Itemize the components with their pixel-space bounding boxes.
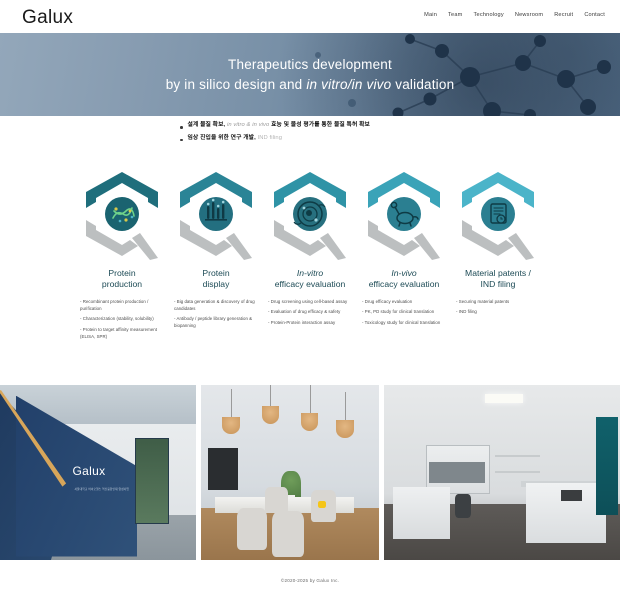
pipeline-list-item: - Drug screening using cell-based assay (268, 298, 352, 305)
nav-item-technology[interactable]: Technology (474, 12, 504, 18)
hero-text-block: Therapeutics development by in silico de… (0, 33, 620, 116)
pipeline-column-material-patents: Material patents / IND filing - Securing… (456, 168, 540, 343)
pipeline-list-item: - PK, PD study for clinical translation (362, 308, 446, 315)
lab-shelf (495, 455, 540, 457)
lab-shelf (495, 471, 540, 473)
pipeline-list-item: - Evaluation of drug efficacy & safety (268, 308, 352, 315)
pipeline-heading-line2: display (202, 279, 229, 290)
pendant-lamp (301, 413, 319, 431)
copyright-text: ©2020-2025 by Galux Inc. (281, 578, 339, 583)
pipeline-list-item: - Drug efficacy evaluation (362, 298, 446, 305)
pipeline-item-list: - Securing material patents - IND filing (456, 298, 540, 319)
nav-item-main[interactable]: Main (424, 12, 437, 18)
pipeline-heading-line1: Material patents / (465, 268, 531, 279)
pipeline-item-list: - Big data generation & discovery of dru… (174, 298, 258, 333)
pipeline-item-list: - Drug efficacy evaluation - PK, PD stud… (362, 298, 446, 330)
intro-bullet-1-bold2: 효능 및 물성 평가를 통한 물질 특허 확보 (269, 122, 370, 128)
intro-bullet-1-italic: in vitro & in vivo (227, 122, 269, 128)
page-root: Galux Main Team Technology Newsroom Recr… (0, 0, 620, 600)
pipeline-heading: In-vivo efficacy evaluation (369, 268, 440, 291)
pipeline-list-item: - Characterization (stability, solubilit… (80, 315, 164, 322)
pipeline-list-item: - Big data generation & discovery of dru… (174, 298, 258, 312)
hero-line2-italic: in vitro/in vivo (306, 77, 391, 92)
protein-production-icon (80, 168, 164, 260)
biosafety-cabinet-interior (429, 462, 486, 483)
office-chair (272, 511, 304, 557)
intro-bullet-item: 임상 진입을 위한 연구 개발, IND filing (180, 135, 620, 143)
bullet-dot-icon (180, 126, 183, 129)
pipeline-heading: Protein production (102, 268, 142, 291)
material-patents-icon (456, 168, 540, 260)
intro-bullet-2-gray: IND filing (258, 135, 283, 141)
in-vitro-efficacy-icon (268, 168, 352, 260)
laboratory-photo[interactable] (384, 385, 620, 560)
hero-line2-part-a: by in silico design and (166, 77, 307, 92)
pipeline-list-item: - Recombinant protein production / purif… (80, 298, 164, 312)
lab-bench-left (393, 487, 450, 540)
hero-headline-line2: by in silico design and in vitro/in vivo… (166, 75, 455, 95)
office-lobby-photo[interactable]: Galux 서울대학교 바이오헬스 혁신융합인재 양성사업 (0, 385, 196, 560)
pipeline-list-item: - Protein-Protein interaction assay (268, 319, 352, 326)
office-chair (265, 487, 288, 513)
lobby-wall-logo: Galux (73, 464, 106, 478)
wall-mounted-tv (208, 448, 238, 490)
pendant-lamp (262, 406, 280, 424)
lab-stool (455, 494, 472, 519)
pipeline-heading-line1: In-vitro (275, 268, 346, 279)
lab-teal-equipment (596, 417, 617, 515)
pipeline-column-in-vitro: In-vitro efficacy evaluation - Drug scre… (268, 168, 352, 343)
pipeline-heading-line2: efficacy evaluation (369, 279, 440, 290)
pipeline-heading-line1: Protein (202, 268, 229, 279)
intro-bullet-list: 설계 물질 확보, in vitro & in vivo 효능 및 물성 평가를… (0, 122, 620, 148)
pipeline-heading: Material patents / IND filing (465, 268, 531, 291)
pipeline-list-item: - Protein to target affinity measurement… (80, 326, 164, 340)
main-navigation: Main Team Technology Newsroom Recruit Co… (424, 12, 605, 18)
pipeline-heading: In-vitro efficacy evaluation (275, 268, 346, 291)
photo-gallery: Galux 서울대학교 바이오헬스 혁신융합인재 양성사업 (0, 385, 620, 560)
meeting-room-photo[interactable] (201, 385, 379, 560)
pipeline-item-list: - Drug screening using cell-based assay … (268, 298, 352, 330)
intro-bullet-item: 설계 물질 확보, in vitro & in vivo 효능 및 물성 평가를… (180, 122, 620, 130)
pipeline-list-item: - Securing material patents (456, 298, 540, 305)
bullet-dot-icon (180, 139, 183, 142)
intro-bullet-2-bold1: 임상 진입을 위한 연구 개발, (188, 135, 258, 141)
intro-bullet-1-bold1: 설계 물질 확보, (188, 122, 227, 128)
pipeline-item-list: - Recombinant protein production / purif… (80, 298, 164, 344)
pipeline-column-in-vivo: In-vivo efficacy evaluation - Drug effic… (362, 168, 446, 343)
pipeline-column-protein-production: Protein production - Recombinant protein… (80, 168, 164, 343)
site-header: Galux Main Team Technology Newsroom Recr… (0, 0, 620, 33)
pipeline-column-protein-display: Protein display - Big data generation & … (174, 168, 258, 343)
lab-ceiling-light (485, 394, 523, 403)
lobby-wall-subtitle: 서울대학교 바이오헬스 혁신융합인재 양성사업 (74, 487, 129, 491)
pipeline-heading-line2: production (102, 279, 142, 290)
intro-bullet-text: 임상 진입을 위한 연구 개발, IND filing (188, 135, 283, 143)
nav-item-newsroom[interactable]: Newsroom (515, 12, 543, 18)
nav-item-team[interactable]: Team (448, 12, 462, 18)
pipeline-heading-line2: IND filing (465, 279, 531, 290)
pendant-lamp (336, 420, 354, 438)
in-vivo-efficacy-icon (362, 168, 446, 260)
pendant-lamp (222, 417, 240, 435)
nav-item-contact[interactable]: Contact (584, 12, 605, 18)
office-chair (237, 508, 267, 550)
protein-display-icon (174, 168, 258, 260)
pipeline-list-item: - IND filing (456, 308, 540, 315)
site-footer: ©2020-2025 by Galux Inc. (0, 560, 620, 600)
pipeline-heading-line1: In-vivo (369, 268, 440, 279)
yellow-desk-object (318, 501, 325, 508)
hero-line2-part-b: validation (391, 77, 454, 92)
site-logo[interactable]: Galux (22, 7, 73, 29)
pipeline-heading: Protein display (202, 268, 229, 291)
hero-banner: Therapeutics development by in silico de… (0, 33, 620, 116)
pipeline-heading-line2: efficacy evaluation (275, 279, 346, 290)
intro-bullet-text: 설계 물질 확보, in vitro & in vivo 효능 및 물성 평가를… (188, 122, 370, 130)
pipeline-columns: Protein production - Recombinant protein… (0, 168, 620, 343)
pipeline-heading-line1: Protein (102, 268, 142, 279)
lab-sink (561, 490, 582, 501)
hero-headline-line1: Therapeutics development (228, 55, 392, 75)
pipeline-list-item: - Antibody / peptide library generation … (174, 315, 258, 329)
pipeline-list-item: - Toxicology study for clinical translat… (362, 319, 446, 326)
nav-item-recruit[interactable]: Recruit (554, 12, 573, 18)
lobby-glass-door (135, 438, 168, 524)
